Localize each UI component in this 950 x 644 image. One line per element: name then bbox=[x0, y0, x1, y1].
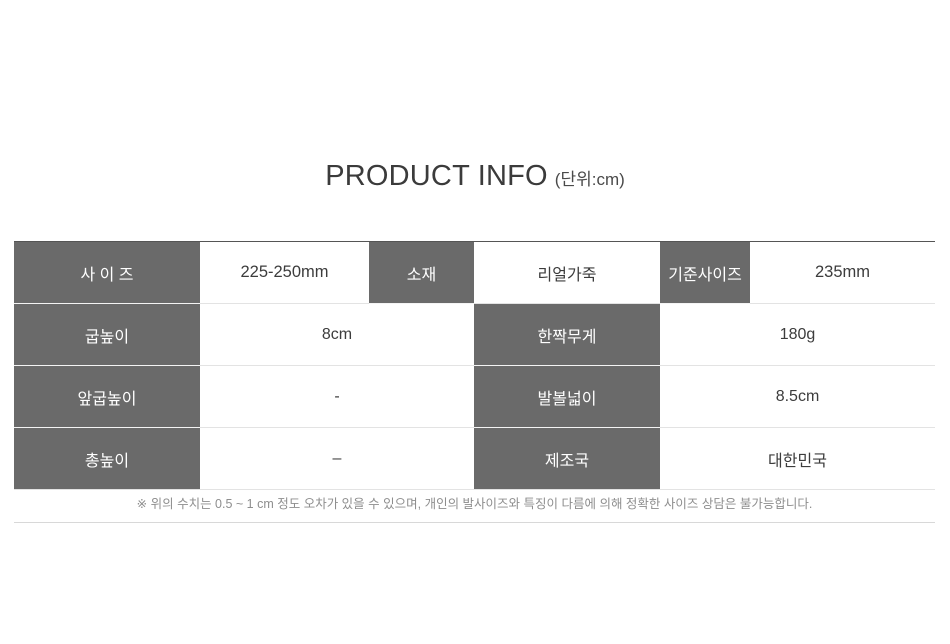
spec-label-foot-width: 발볼넓이 bbox=[474, 366, 660, 428]
table-row: 총높이 – 제조국 대한민국 bbox=[14, 428, 935, 490]
spec-label-size: 사 이 즈 bbox=[14, 242, 200, 304]
product-spec-table: 사 이 즈 225-250mm 소재 리얼가죽 기준사이즈 235mm 굽높이 … bbox=[14, 241, 935, 490]
spec-value-single-weight: 180g bbox=[660, 304, 935, 366]
page-title: PRODUCT INFO(단위:cm) bbox=[0, 160, 950, 193]
size-disclaimer-note: ※ 위의 수치는 0.5 ~ 1 cm 정도 오차가 있을 수 있으며, 개인의… bbox=[14, 487, 935, 523]
spec-value-foot-width: 8.5cm bbox=[660, 366, 935, 428]
spec-label-single-weight: 한짝무게 bbox=[474, 304, 660, 366]
page-title-unit: (단위:cm) bbox=[555, 170, 625, 189]
spec-label-heel-height: 굽높이 bbox=[14, 304, 200, 366]
spec-label-country-of-origin: 제조국 bbox=[474, 428, 660, 490]
spec-value-size: 225-250mm bbox=[200, 242, 369, 304]
spec-table-body: 사 이 즈 225-250mm 소재 리얼가죽 기준사이즈 235mm 굽높이 … bbox=[14, 242, 935, 490]
spec-value-material: 리얼가죽 bbox=[474, 242, 660, 304]
table-row: 굽높이 8cm 한짝무게 180g bbox=[14, 304, 935, 366]
spec-value-front-heel-height: - bbox=[200, 366, 474, 428]
spec-value-standard-size: 235mm bbox=[750, 242, 935, 304]
table-row: 앞굽높이 - 발볼넓이 8.5cm bbox=[14, 366, 935, 428]
product-info-page: PRODUCT INFO(단위:cm) 사 이 즈 225-250mm 소재 리… bbox=[0, 0, 950, 644]
spec-label-material: 소재 bbox=[369, 242, 474, 304]
spec-label-standard-size: 기준사이즈 bbox=[660, 242, 750, 304]
spec-label-total-height: 총높이 bbox=[14, 428, 200, 490]
spec-value-country-of-origin: 대한민국 bbox=[660, 428, 935, 490]
spec-value-heel-height: 8cm bbox=[200, 304, 474, 366]
table-row: 사 이 즈 225-250mm 소재 리얼가죽 기준사이즈 235mm bbox=[14, 242, 935, 304]
spec-value-total-height: – bbox=[200, 428, 474, 490]
page-title-main: PRODUCT INFO bbox=[325, 160, 548, 192]
spec-label-front-heel-height: 앞굽높이 bbox=[14, 366, 200, 428]
